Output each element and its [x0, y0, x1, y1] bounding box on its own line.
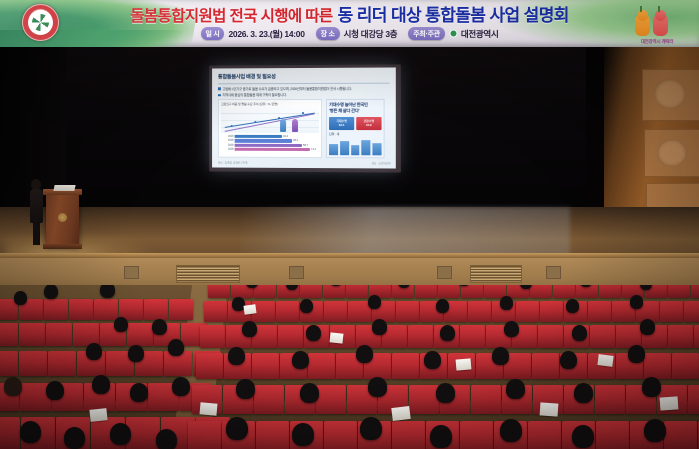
mascot-red-icon [653, 14, 668, 36]
attendee-head [64, 427, 85, 449]
bar-value: 32.4 [283, 135, 288, 138]
compare-caption: 단위 : 세 [329, 132, 382, 136]
bar-label: 2035 [221, 148, 234, 151]
mascot-group: 대전광역시 캐릭터 [629, 3, 685, 45]
bar-label: 2025 [221, 139, 234, 142]
attendee-head [300, 383, 319, 403]
right-wall-shadow [586, 47, 604, 222]
wall-medallion-icon [654, 79, 686, 109]
attendee-head [300, 299, 313, 313]
attendee-head [168, 339, 184, 356]
handout-paper [89, 408, 107, 422]
line-chart [221, 107, 319, 133]
attendee-head [86, 343, 102, 360]
attendee-head [506, 379, 525, 399]
attendee-head [100, 285, 115, 298]
attendee-head [628, 345, 645, 363]
left-panel-caption: 고령인구 비중 및 돌봄 수요 추이 (단위 : %, 만명) [221, 102, 319, 106]
attendee-head [500, 419, 522, 442]
right-bar-chart [329, 138, 382, 155]
projection-screen: 통합돌봄사업 배경 및 필요성 고령화·1인가구 증가로 돌봄 수요가 급증하고… [212, 67, 396, 168]
attendee-head [436, 383, 455, 403]
attendee-head [114, 317, 128, 332]
slide-source-left: 자료 : 통계청, 장래인구추계 [218, 161, 247, 165]
air-vent [470, 265, 522, 283]
attendee-head [574, 383, 593, 403]
bar-value: 58.7 [303, 144, 308, 147]
slide-bullet-text: 고령화·1인가구 증가로 돌봄 수요가 급증하고 있으며, 2026년부터 돌봄… [222, 86, 352, 91]
attendee-head [306, 325, 321, 341]
attendee-head [492, 347, 509, 365]
attendee-head [500, 296, 513, 310]
bar-value: 45.1 [293, 139, 298, 142]
attendee-head [572, 425, 594, 448]
auditorium-presentation-photo: 돌봄통합지원법 전국 시행에 따른동 리더 대상 통합돌봄 사업 설명회 일 시… [0, 0, 699, 449]
slide-right-panel: 기대수명 늘어난 한국인 '병든 채 살다 간다' 기대수명 83.5 건강수명… [326, 99, 385, 158]
attendee-head [46, 381, 64, 400]
figure-icon-female [292, 119, 298, 132]
handout-paper [456, 358, 472, 370]
attendee-head [630, 295, 643, 309]
handout-paper [540, 402, 559, 416]
handout-paper [391, 406, 410, 421]
bar-label: 2030 [221, 144, 234, 147]
attendee-head [242, 321, 257, 337]
banner-title: 돌봄통합지원법 전국 시행에 따른동 리더 대상 통합돌봄 사업 설명회 [0, 1, 699, 26]
banner-title-red: 돌봄통합지원법 전국 시행에 따른 [130, 8, 332, 25]
banner-info-host: 주최·주관 대전광역시 [408, 27, 498, 40]
attendee-head [424, 351, 441, 369]
right-wall [604, 47, 699, 222]
attendee-head [640, 319, 655, 335]
event-banner: 돌봄통합지원법 전국 시행에 따른동 리더 대상 통합돌봄 사업 설명회 일 시… [0, 0, 699, 47]
attendee-head [228, 347, 245, 365]
slide-title: 통합돌봄사업 배경 및 필요성 [218, 73, 390, 81]
attendee-head [110, 423, 131, 445]
bar-label: 2020 [221, 135, 234, 138]
attendee-head [436, 299, 449, 313]
attendee-head [368, 377, 387, 397]
banner-info-host-value: 대전광역시 [461, 28, 499, 40]
attendee-head [292, 423, 314, 446]
attendee-head [372, 319, 387, 335]
attendee-head [152, 319, 167, 335]
lectern [46, 193, 79, 246]
attendee-head [368, 295, 381, 309]
slide-source-right: 자료 : 보건복지부 [372, 161, 391, 165]
attendee-head [644, 419, 666, 442]
compare-box-life-expectancy: 기대수명 83.5 [329, 117, 354, 130]
audience-seating [0, 285, 699, 449]
presenter [30, 179, 43, 245]
banner-info-date: 일 시 2026. 3. 23.(월) 14:00 [201, 27, 305, 40]
slide-bullet: 지역사회 중심의 통합돌봄 체계 구축이 필요합니다. [218, 93, 390, 98]
banner-title-blue: 동 리더 대상 통합돌봄 사업 설명회 [338, 6, 569, 25]
air-vent [176, 265, 240, 283]
compare-value: 83.5 [339, 123, 344, 127]
attendee-head [440, 325, 455, 341]
attendee-head [572, 325, 587, 341]
attendee-head [566, 299, 579, 313]
handout-paper [243, 304, 256, 315]
bar-row: 2035 71.2 [221, 148, 319, 152]
banner-info-place: 장 소 시청 대강당 3층 [316, 27, 398, 40]
bar-row: 2020 32.4 [221, 135, 319, 139]
stage-light-reflection [240, 207, 570, 259]
attendee-head [172, 377, 190, 396]
wall-outlet [124, 266, 139, 279]
mascot-orange-icon [635, 14, 650, 36]
slide-left-panel: 고령인구 비중 및 돌봄 수요 추이 (단위 : %, 만명) [218, 99, 322, 157]
attendee-head [560, 351, 577, 369]
attendee-head [128, 345, 144, 362]
lectern-papers [53, 185, 75, 191]
handout-paper [597, 354, 613, 367]
lectern-base [43, 244, 82, 249]
presenter-legs [33, 222, 40, 245]
bullet-square-icon [218, 87, 221, 90]
attendee-head [156, 429, 177, 449]
compare-box-healthy-life: 건강수명 65.8 [356, 117, 381, 130]
attendee-head [292, 351, 309, 369]
auditorium-hall: 통합돌봄사업 배경 및 필요성 고령화·1인가구 증가로 돌봄 수요가 급증하고… [0, 47, 699, 449]
banner-info-row: 일 시 2026. 3. 23.(월) 14:00 장 소 시청 대강당 3층 … [0, 27, 699, 40]
attendee-head [642, 377, 661, 397]
attendee-head [44, 285, 58, 299]
attendee-head [360, 417, 382, 440]
attendee-head [356, 345, 373, 363]
attendee-head [430, 425, 452, 448]
seat-row[interactable] [0, 351, 221, 376]
banner-info-place-label: 장 소 [316, 27, 340, 40]
presenter-body [30, 189, 43, 223]
attendee-head [236, 379, 255, 399]
bullet-square-icon [218, 94, 221, 97]
attendee-head [130, 383, 148, 402]
slide-bullet: 고령화·1인가구 증가로 돌봄 수요가 급증하고 있으며, 2026년부터 돌봄… [218, 86, 390, 91]
handout-paper [660, 396, 679, 410]
right-panel-title: 기대수명 늘어난 한국인 '병든 채 살다 간다' [329, 102, 382, 113]
attendee-head [504, 321, 519, 337]
seat-row[interactable] [208, 285, 699, 298]
banner-info-date-value: 2026. 3. 23.(월) 14:00 [228, 28, 304, 40]
handout-paper [330, 332, 344, 343]
wall-outlet [437, 266, 452, 279]
mascot-caption: 대전광역시 캐릭터 [629, 39, 685, 45]
figure-icon-male [280, 119, 286, 132]
lectern-emblem-icon [58, 213, 67, 222]
slide-bullet-text: 지역사회 중심의 통합돌봄 체계 구축이 필요합니다. [222, 93, 286, 98]
wall-medallion-icon [657, 139, 687, 167]
attendee-head [20, 421, 41, 443]
bar-row: 2030 58.7 [221, 143, 319, 147]
seat-row[interactable] [204, 301, 699, 322]
wall-outlet [289, 266, 304, 279]
city-logo-icon [449, 29, 458, 38]
bar-chart: 2020 32.4 2025 45.1 2030 [221, 135, 319, 152]
attendee-head [14, 291, 27, 305]
banner-info-place-value: 시청 대강당 3층 [344, 28, 398, 40]
attendee-head [92, 375, 110, 394]
banner-info-host-label: 주최·주관 [408, 27, 445, 40]
seat-row[interactable] [196, 353, 699, 379]
attendee-head [226, 417, 248, 440]
compare-value: 65.8 [366, 123, 372, 127]
seat-row[interactable] [0, 299, 193, 320]
handout-paper [200, 402, 218, 415]
attendee-head [4, 377, 22, 396]
wall-outlet [546, 266, 561, 279]
bar-row: 2025 45.1 [221, 139, 319, 143]
banner-info-date-label: 일 시 [201, 27, 225, 40]
bar-value: 71.2 [311, 148, 316, 151]
presentation-slide: 통합돌봄사업 배경 및 필요성 고령화·1인가구 증가로 돌봄 수요가 급증하고… [212, 67, 396, 168]
